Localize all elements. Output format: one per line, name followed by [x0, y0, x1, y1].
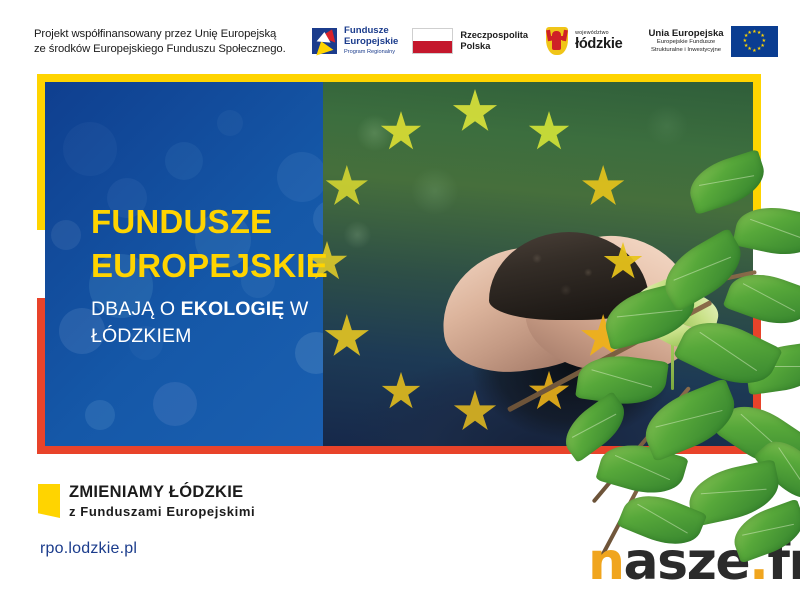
- top-logo-bar: Projekt współfinansowany przez Unię Euro…: [0, 0, 800, 74]
- eu-flag-star: ★: [757, 47, 761, 51]
- lodzkie-big-label: łódzkie: [575, 37, 622, 52]
- nasze-fm-watermark: nasze.fm: [588, 532, 800, 592]
- watermark-part-dot: .: [749, 532, 767, 592]
- eu-flag-icon: ★★★★★★★★★★★★: [731, 26, 778, 57]
- zmieniamy-text: ZMIENIAMY ŁÓDZKIE z Funduszami Europejsk…: [69, 484, 255, 518]
- funding-disclaimer-text: Projekt współfinansowany przez Unię Euro…: [34, 27, 286, 57]
- eu-flag-star: ★: [752, 49, 756, 53]
- eu-flag-star: ★: [743, 39, 747, 43]
- banner-frame-red: [37, 298, 761, 454]
- eu-flag-star: ★: [744, 44, 748, 48]
- eu-star: [603, 242, 643, 282]
- main-banner: FUNDUSZE EUROPEJSKIE DBAJĄ O EKOLOGIĘ W …: [37, 74, 761, 454]
- logo-rzeczpospolita-polska: Rzeczpospolita Polska: [398, 18, 528, 64]
- watermark-part-fm: fm: [767, 532, 800, 592]
- zmieniamy-mark-icon: [38, 484, 60, 518]
- website-url-link[interactable]: rpo.lodzkie.pl: [40, 540, 137, 558]
- lodzkie-label: województwo łódzkie: [575, 31, 622, 52]
- fundusze-europejskie-emblem-icon: [312, 25, 338, 57]
- fe-title-line2: Europejskie: [344, 36, 398, 47]
- fundusze-europejskie-label: Fundusze Europejskie Program Regionalny: [344, 26, 398, 55]
- watermark-part-asze: asze: [624, 532, 750, 592]
- fe-subtitle: Program Regionalny: [344, 48, 398, 56]
- poland-label: Rzeczpospolita Polska: [460, 30, 528, 52]
- pl-title-line1: Rzeczpospolita: [460, 30, 528, 40]
- banner-frame-yellow: [37, 74, 761, 230]
- logo-wojewodztwo-lodzkie: województwo łódzkie: [528, 18, 622, 64]
- pl-title-line2: Polska: [460, 41, 490, 51]
- headline-line-2: EUROPEJSKIE: [91, 244, 421, 288]
- eu-subtitle-2: Strukturalne i Inwestycyjne: [648, 47, 723, 55]
- eu-title: Unia Europejska: [648, 28, 723, 39]
- institutional-logo-row: Fundusze Europejskie Program Regionalny …: [312, 17, 778, 65]
- logo-fundusze-europejskie: Fundusze Europejskie Program Regionalny: [312, 18, 398, 64]
- eu-flag-star: ★: [747, 31, 751, 35]
- eu-subtitle-1: Europejskie Fundusze: [648, 39, 723, 47]
- slogan-line-1: ZMIENIAMY ŁÓDZKIE: [69, 484, 255, 501]
- poster-root: Projekt współfinansowany przez Unię Euro…: [0, 0, 800, 600]
- eu-flag-star: ★: [752, 30, 756, 34]
- eu-label: Unia Europejska Europejskie Fundusze Str…: [648, 28, 723, 54]
- slogan-line-2: z Funduszami Europejskimi: [69, 505, 255, 518]
- zmieniamy-lodzkie-lockup: ZMIENIAMY ŁÓDZKIE z Funduszami Europejsk…: [38, 484, 255, 518]
- watermark-part-n: n: [588, 532, 624, 592]
- logo-unia-europejska: Unia Europejska Europejskie Fundusze Str…: [648, 18, 777, 64]
- lodzkie-coat-of-arms-icon: [544, 26, 570, 57]
- poland-flag-icon: [412, 28, 453, 54]
- decorative-leaf: [684, 459, 784, 527]
